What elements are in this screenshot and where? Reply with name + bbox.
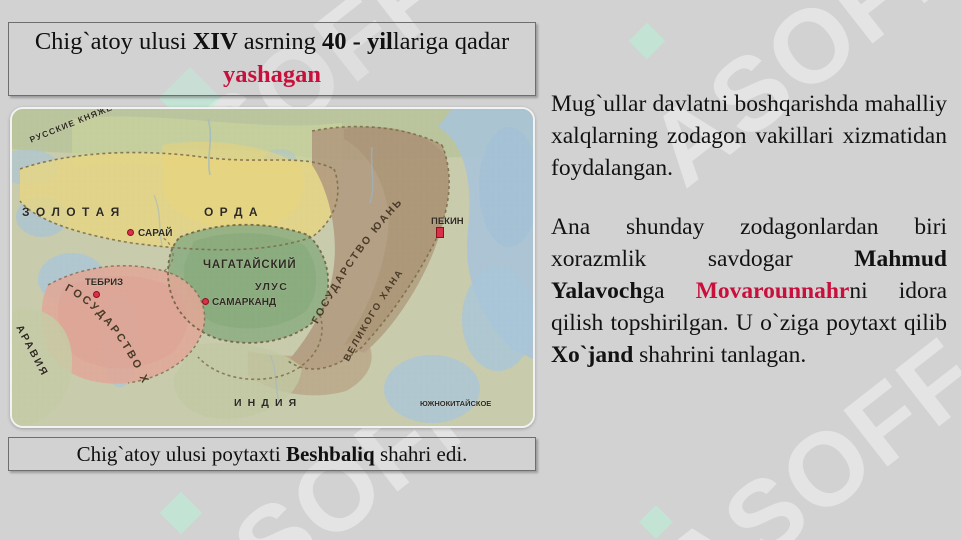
paragraph-2: Ana shunday zodagonlardan biri xorazmlik… [551,211,947,372]
watermark-diamond [639,505,673,539]
p2-highlight-movarounnahr: Movarounnahr [696,278,850,304]
map-svg: ГОСУДАРСТВО ХУЛАГИДОВ ГОСУДАРСТВО ЮАНЬ В… [12,109,533,426]
city-marker-tabriz [93,291,100,298]
title-part-2: asrning [238,28,322,55]
title-bold-xiv: XIV [193,28,238,55]
city-marker-samarkand [202,298,209,305]
title-text: Chig`atoy ulusi XIV asrning 40 - yillari… [9,26,535,91]
caption-box: Chig`atoy ulusi poytaxti Beshbaliq shahr… [8,437,536,471]
caption-part-1: Chig`atoy ulusi poytaxti [77,442,286,466]
p2-part-4: shahrini tanlagan. [633,342,806,368]
title-box: Chig`atoy ulusi XIV asrning 40 - yillari… [8,22,536,96]
p2-part-2: ga [642,278,695,304]
caption-bold-beshbaliq: Beshbaliq [286,442,375,466]
title-highlight-yashagan: yashagan [223,61,321,88]
caption-part-2: shahri edi. [375,442,468,466]
watermark-diamond [160,492,202,534]
title-part-1: Chig`atoy ulusi [35,28,193,55]
caption-text: Chig`atoy ulusi poytaxti Beshbaliq shahr… [77,442,468,467]
title-part-3: lariga [393,28,449,55]
watermark-diamond [629,23,666,60]
slide-canvas: ASOFF ASOFF ASOFF ASOFF Chig`atoy ulusi … [0,0,961,540]
city-marker-beijing [436,227,444,238]
title-bold-years: 40 - yil [322,28,393,55]
city-marker-saray [127,229,134,236]
p2-bold-xojand: Xo`jand [551,342,633,368]
historical-map: ГОСУДАРСТВО ХУЛАГИДОВ ГОСУДАРСТВО ЮАНЬ В… [10,107,535,428]
title-part-4: qadar [455,28,509,55]
map-inner: ГОСУДАРСТВО ХУЛАГИДОВ ГОСУДАРСТВО ЮАНЬ В… [12,109,533,426]
body-text-panel: Mug`ullar davlatni boshqarishda mahalliy… [551,88,947,372]
paragraph-1: Mug`ullar davlatni boshqarishda mahalliy… [551,88,947,185]
